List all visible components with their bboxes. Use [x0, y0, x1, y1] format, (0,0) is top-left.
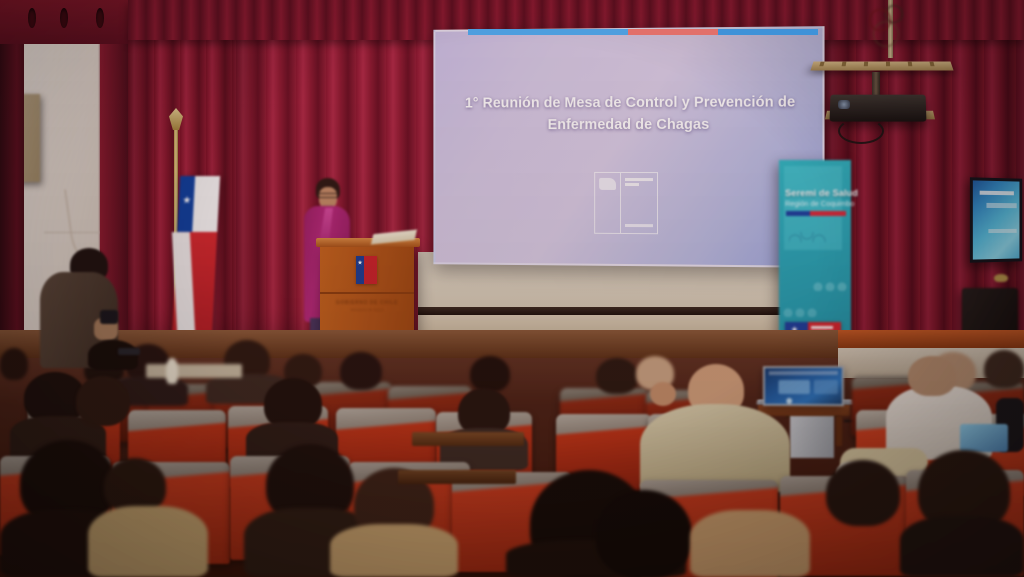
tv-content-line [986, 203, 1016, 208]
banner-logo-line-1 [811, 326, 833, 329]
av-console [790, 414, 834, 458]
document-papers [146, 364, 242, 378]
projector-power-cable [838, 118, 884, 144]
minsal-logo-icon [594, 172, 658, 234]
chilean-flag-icon [172, 176, 220, 334]
banner-wave-graphic [789, 232, 833, 242]
stage-wall-rail [418, 307, 830, 315]
projection-screen: 1° Reunión de Mesa de Control y Prevenci… [433, 26, 824, 268]
banner-heading: Seremi de Salud [785, 188, 851, 198]
document-papers [166, 358, 178, 384]
row-desk-surface [398, 470, 516, 484]
banner-bar-blue [786, 211, 810, 216]
tablet-device [960, 424, 1008, 452]
projector-lens-icon [838, 100, 850, 109]
slide-title-line-1: 1° Reunión de Mesa de Control y Prevenci… [457, 91, 804, 115]
audience-person-head [340, 352, 382, 390]
audience-person-ear [650, 382, 676, 406]
flag-white-band [192, 176, 220, 232]
auditorium-photograph: 1° Reunión de Mesa de Control y Prevenci… [0, 0, 1024, 577]
valance-vent-icon [96, 8, 104, 28]
laptop-ui-dot [786, 398, 792, 404]
emblem-blue-field [356, 256, 364, 284]
presenter-laptop [763, 366, 844, 406]
wall-tv-monitor [970, 177, 1022, 262]
logo-text-panel [622, 173, 658, 233]
banner-subheading: Región de Coquimbo [785, 199, 853, 208]
podium-org-label: GOBIERNO DE CHILE [336, 300, 398, 306]
logo-emblem-icon [599, 178, 616, 190]
tv-wall-mount [994, 274, 1008, 282]
slide-accent-red [628, 29, 718, 35]
flag-star-icon [183, 196, 191, 204]
podium-org-text: GOBIERNO DE CHILE Ministerio de Salud [320, 300, 414, 312]
banner-bar-red [810, 211, 846, 216]
laptop-screen-content [765, 368, 842, 404]
phone-device [100, 310, 118, 324]
banner-dots-graphic [813, 282, 847, 291]
emblem-red-field [364, 256, 377, 284]
tv-content-line [988, 229, 1016, 233]
slide-title-line-2: Enfermedad de Chagas [457, 114, 804, 137]
logo-org-line-1 [625, 178, 653, 181]
row-desk-surface [412, 432, 524, 446]
eyeglasses-icon [318, 193, 338, 198]
audience-person-head [596, 490, 692, 577]
eyeglasses-icon [118, 348, 140, 355]
laptop-ui-card [778, 380, 809, 394]
audience-person-head [596, 358, 638, 394]
banner-color-bar [786, 211, 846, 216]
audience-person-head [470, 356, 510, 392]
audience-person-head [984, 350, 1024, 388]
audience-person-body [330, 524, 458, 577]
flag-blue-canton [177, 176, 195, 232]
podium-sub-label: Ministerio de Salud [320, 308, 414, 312]
audience-person-head [908, 356, 956, 396]
logo-org-line-2 [625, 183, 639, 186]
laptop-titlebar [769, 371, 838, 375]
slide-accent-blue-right [718, 29, 818, 35]
audience-person-head [88, 340, 138, 370]
left-wall-column [0, 0, 24, 372]
valance-vent-icon [60, 8, 68, 28]
podium-panel-seam [320, 292, 414, 294]
right-side-rail [838, 330, 1024, 348]
laptop-ui-card [814, 380, 838, 394]
audience-person-body [88, 506, 208, 577]
audience-person-body [690, 510, 810, 577]
projector-platform-slats [819, 62, 944, 66]
chile-emblem-icon [356, 256, 377, 284]
valance-vent-icon [28, 8, 36, 28]
banner-dots-graphic [783, 308, 817, 317]
projected-slide: 1° Reunión de Mesa de Control y Prevenci… [433, 26, 824, 268]
audience-person-head [826, 460, 900, 526]
audience-person-body [640, 404, 790, 492]
tv-content-line [980, 191, 1014, 196]
audience-person-head [76, 376, 130, 426]
emblem-star-icon [358, 260, 363, 265]
table-leg [836, 416, 842, 446]
projector-cables [860, 4, 916, 60]
tv-screen-content [973, 180, 1020, 259]
slide-accent-blue-left [468, 29, 628, 35]
audience-person-head [0, 348, 28, 380]
audience-person-body [900, 516, 1024, 577]
logo-gov-line [625, 224, 653, 227]
logo-emblem-panel [595, 173, 621, 233]
slide-title: 1° Reunión de Mesa de Control y Prevenci… [457, 91, 804, 137]
